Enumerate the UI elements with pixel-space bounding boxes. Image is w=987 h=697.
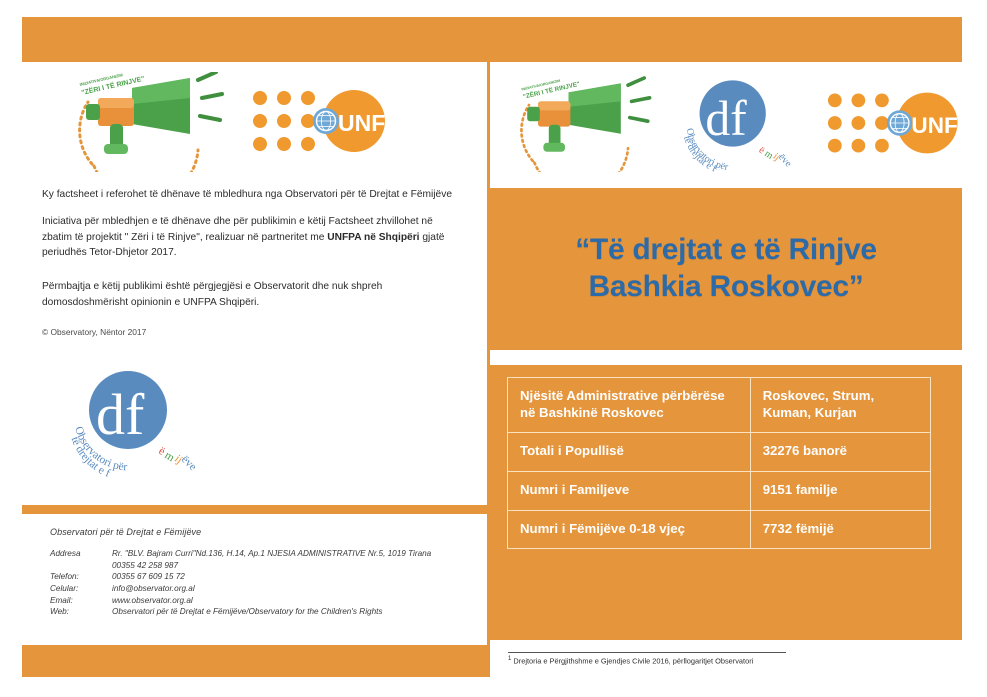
left-logo-row: INIZIATIVA/ORGANIZIM "ZËRI I TË RINJVE"	[58, 72, 438, 177]
contact-row: Email: www.observator.org.al	[50, 595, 431, 607]
unfpa-logo-icon: UNFPA	[250, 88, 390, 154]
contact-org-name: Observatori për të Drejtat e Fëmijëve	[50, 527, 480, 537]
facts-table-block: Njësitë Administrative përbërëse në Bash…	[490, 365, 962, 640]
contact-row: Addresa Rr. "BLV. Bajram Curri"Nd.136, H…	[50, 548, 431, 560]
title-line-2: Bashkia Roskovec”	[575, 269, 877, 306]
intro-copy: Ky factsheet i referohet të dhënave të m…	[42, 187, 462, 322]
fact-label: Numri i Familjeve	[508, 471, 751, 510]
contact-divider-bar	[22, 505, 488, 514]
unfpa-wordmark: UNFPA	[338, 110, 390, 136]
title-block: “Të drejtat e të Rinjve Bashkia Roskovec…	[490, 188, 962, 350]
table-row: Totali i Popullisë 32276 banorë	[508, 433, 931, 472]
footnote-text: 1 Drejtoria e Përgjithshme e Gjendjes Ci…	[508, 656, 948, 666]
paragraph-1: Ky factsheet i referohet të dhënave të m…	[42, 187, 462, 203]
table-row: Numri i Fëmijëve 0-18 vjeç 7732 fëmijë	[508, 510, 931, 549]
contact-key: Web:	[50, 606, 112, 618]
fact-value: 9151 familje	[750, 471, 930, 510]
megaphone-icon: INIZIATIVA/ORGANIZIM "ZËRI I TË RINJVE"	[502, 74, 664, 172]
fact-label: Numri i Fëmijëve 0-18 vjeç	[508, 510, 751, 549]
contact-key: Celular:	[50, 583, 112, 595]
footnote-body: Drejtoria e Përgjithshme e Gjendjes Civi…	[513, 656, 753, 665]
table-row: Numri i Familjeve 9151 familje	[508, 471, 931, 510]
contact-value[interactable]: www.observator.org.al	[112, 595, 431, 607]
df-monogram: df	[96, 382, 145, 447]
contact-value: 00355 42 258 987	[112, 560, 431, 572]
copyright-line: © Observatory, Nëntor 2017	[42, 327, 146, 337]
facts-table: Njësitë Administrative përbërëse në Bash…	[507, 377, 931, 549]
observatory-df-logo-icon: df Observatori për të drejtat e f ë m ij…	[678, 73, 811, 173]
fact-value: 32276 banorë	[750, 433, 930, 472]
right-logo-row: INIZIATIVA/ORGANIZIM "ZËRI I TË RINJVE" …	[502, 68, 962, 178]
paragraph-2: Iniciativa për mbledhjen e të dhënave dh…	[42, 214, 462, 261]
table-row: Njësitë Administrative përbërëse në Bash…	[508, 378, 931, 433]
fact-value: 7732 fëmijë	[750, 510, 930, 549]
megaphone-icon: INIZIATIVA/ORGANIZIM "ZËRI I TË RINJVE"	[58, 72, 238, 172]
contact-value: Observatori për të Drejtat e Fëmijëve/Ob…	[112, 606, 431, 618]
observatory-df-logo-icon: df Observatori për të drejtat e f ë m ij…	[62, 362, 222, 477]
contact-key	[50, 560, 112, 572]
title-line-1: “Të drejtat e të Rinjve	[575, 232, 877, 269]
paragraph-3: Përmbajtja e këtij publikimi është përgj…	[42, 279, 462, 311]
page-title: “Të drejtat e të Rinjve Bashkia Roskovec…	[575, 232, 877, 305]
contact-row: Telefon: 00355 67 609 15 72	[50, 571, 431, 583]
contact-value: 00355 67 609 15 72	[112, 571, 431, 583]
fact-label: Njësitë Administrative përbërëse në Bash…	[508, 378, 751, 433]
contact-row: Celular: info@observator.org.al	[50, 583, 431, 595]
fact-value: Roskovec, Strum, Kuman, Kurjan	[750, 378, 930, 433]
paragraph-2-bold: UNFPA në Shqipëri	[327, 232, 419, 243]
unfpa-logo-icon: UNFPA	[825, 90, 962, 156]
unfpa-wordmark: UNFPA	[911, 113, 962, 138]
contact-row: 00355 42 258 987	[50, 560, 431, 572]
contact-row: Web: Observatori për të Drejtat e Fëmijë…	[50, 606, 431, 618]
df-monogram: df	[705, 91, 747, 146]
contact-key: Email:	[50, 595, 112, 607]
footnote-marker: 1	[508, 656, 511, 662]
contact-key: Telefon:	[50, 571, 112, 583]
contact-value[interactable]: info@observator.org.al	[112, 583, 431, 595]
factsheet-page: INIZIATIVA/ORGANIZIM "ZËRI I TË RINJVE"	[0, 0, 987, 697]
left-page: INIZIATIVA/ORGANIZIM "ZËRI I TË RINJVE"	[22, 62, 488, 645]
bottom-left-orange-band	[22, 645, 488, 677]
right-page: INIZIATIVA/ORGANIZIM "ZËRI I TË RINJVE" …	[490, 62, 962, 677]
contact-value: Rr. "BLV. Bajram Curri"Nd.136, H.14, Ap.…	[112, 548, 431, 560]
top-orange-band	[22, 17, 962, 62]
contact-block: Observatori për të Drejtat e Fëmijëve Ad…	[50, 527, 480, 618]
footnote-rule	[508, 652, 786, 653]
fact-label: Totali i Popullisë	[508, 433, 751, 472]
contact-table: Addresa Rr. "BLV. Bajram Curri"Nd.136, H…	[50, 548, 431, 618]
contact-key: Addresa	[50, 548, 112, 560]
footnote: 1 Drejtoria e Përgjithshme e Gjendjes Ci…	[508, 652, 948, 666]
